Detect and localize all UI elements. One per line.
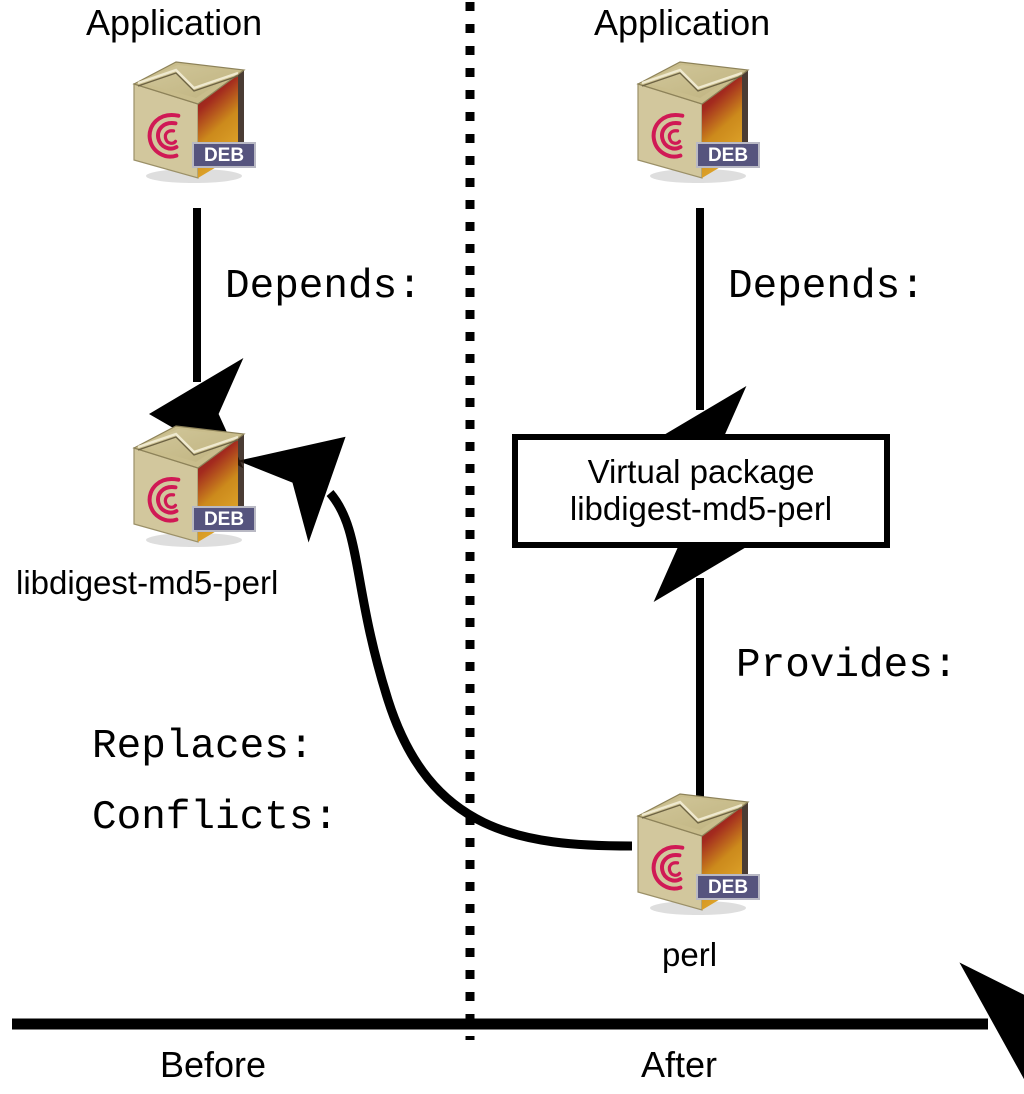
deb-badge: DEB (192, 142, 256, 168)
timeline-before-label: Before (160, 1046, 266, 1084)
deb-badge: DEB (192, 506, 256, 532)
debian-package-icon: DEB (620, 780, 770, 920)
debian-package-icon: DEB (116, 412, 266, 552)
libdigest-md5-perl-label: libdigest-md5-perl (16, 566, 278, 601)
virtual-package-box: Virtual package libdigest-md5-perl (512, 434, 890, 548)
virtual-package-line1: Virtual package (588, 454, 815, 491)
svg-text:DEB: DEB (708, 877, 748, 898)
virtual-package-line2: libdigest-md5-perl (570, 491, 832, 528)
svg-text:DEB: DEB (708, 145, 748, 166)
perl-label: perl (662, 938, 717, 973)
conflicts-label: Conflicts: (92, 797, 338, 840)
after-depends-label: Depends: (728, 266, 925, 309)
svg-text:DEB: DEB (204, 509, 244, 530)
before-application-label: Application (86, 4, 262, 42)
diagram-canvas: Application (0, 0, 1024, 1094)
after-application-label: Application (594, 4, 770, 42)
svg-text:DEB: DEB (204, 145, 244, 166)
deb-badge: DEB (696, 874, 760, 900)
timeline-after-label: After (641, 1046, 717, 1084)
replaces-label: Replaces: (92, 726, 313, 769)
before-depends-label: Depends: (225, 266, 422, 309)
deb-badge: DEB (696, 142, 760, 168)
provides-label: Provides: (736, 645, 957, 688)
debian-package-icon: DEB (620, 48, 770, 188)
debian-package-icon: DEB (116, 48, 266, 188)
